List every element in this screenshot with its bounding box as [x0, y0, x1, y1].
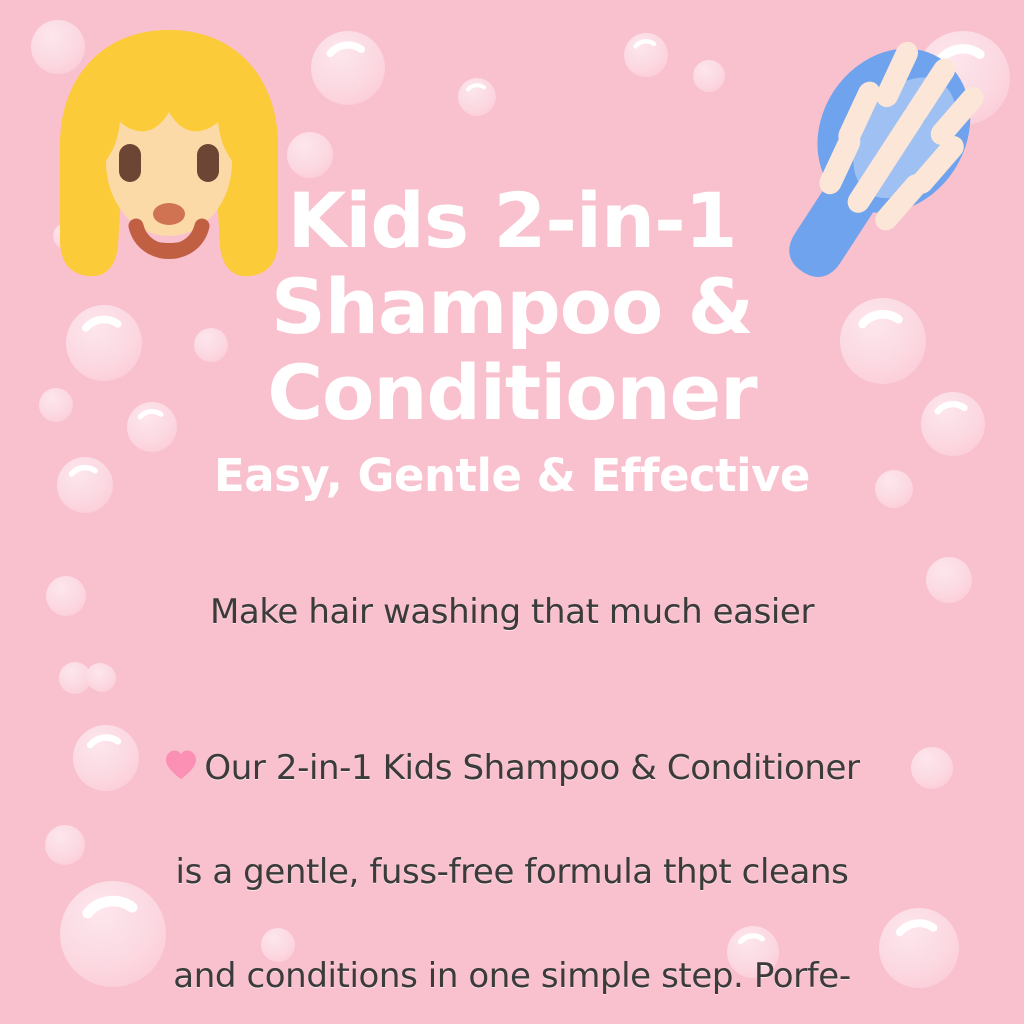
page-title: Kids 2-in-1 Shampoo & Conditioner	[62, 178, 962, 436]
bubble	[46, 576, 86, 616]
bubble-highlight-icon	[635, 41, 653, 46]
body-copy: Make hair washing that much easier Our 2…	[112, 534, 912, 1024]
body-line-4: and conditions in one simple step. Porfe…	[112, 950, 912, 1002]
bubble	[926, 557, 972, 603]
body-line-2-wrapper: Our 2-in-1 Kids Shampoo & Conditioner	[112, 690, 912, 794]
promo-graphic: Kids 2-in-1 Shampoo & Conditioner Easy, …	[0, 0, 1024, 1024]
bubble	[45, 825, 85, 865]
bubble-highlight-icon	[468, 85, 484, 89]
bubble	[311, 31, 385, 105]
bubble	[458, 78, 496, 116]
bubble	[86, 663, 114, 691]
body-line-3: is a gentle, fuss-free formula thpt clea…	[112, 846, 912, 898]
body-line-1: Make hair washing that much easier	[112, 586, 912, 638]
bubble	[693, 60, 725, 92]
subtitle: Easy, Gentle & Effective	[62, 448, 962, 504]
bubble	[624, 33, 668, 77]
bubble	[59, 662, 91, 694]
bubble-highlight-icon	[330, 45, 361, 53]
pink-heart-icon	[164, 749, 198, 781]
bubble	[911, 747, 953, 789]
body-line-2: Our 2-in-1 Kids Shampoo & Conditioner	[204, 748, 859, 788]
